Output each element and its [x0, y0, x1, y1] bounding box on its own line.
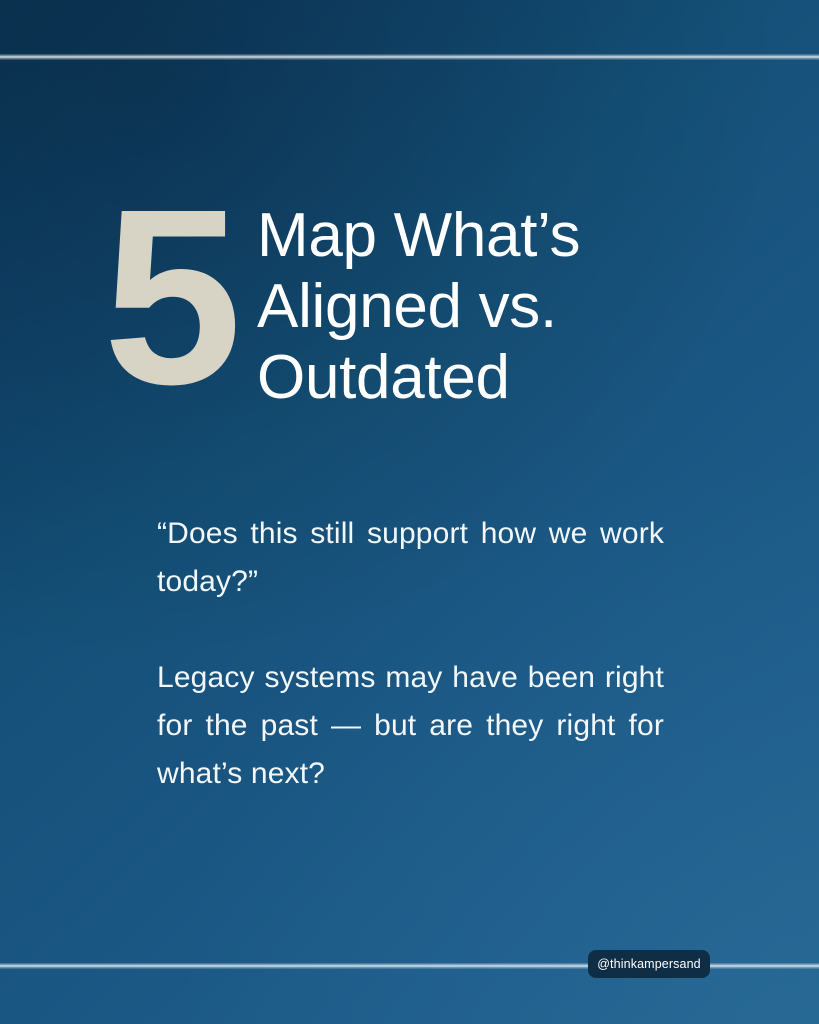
slide-canvas: 5 Map What’s Aligned vs. Outdated “Does … — [0, 0, 819, 1024]
handle-badge[interactable]: @thinkampersand — [588, 950, 710, 978]
page-title: Map What’s Aligned vs. Outdated — [257, 200, 580, 413]
slide-number: 5 — [103, 187, 237, 407]
top-divider-rule — [0, 54, 819, 60]
body-paragraph-quote: “Does this still support how we work tod… — [157, 510, 664, 606]
body-copy: “Does this still support how we work tod… — [157, 510, 664, 798]
headline-block: 5 Map What’s Aligned vs. Outdated — [103, 193, 580, 413]
body-paragraph-detail: Legacy systems may have been right for t… — [157, 654, 664, 798]
